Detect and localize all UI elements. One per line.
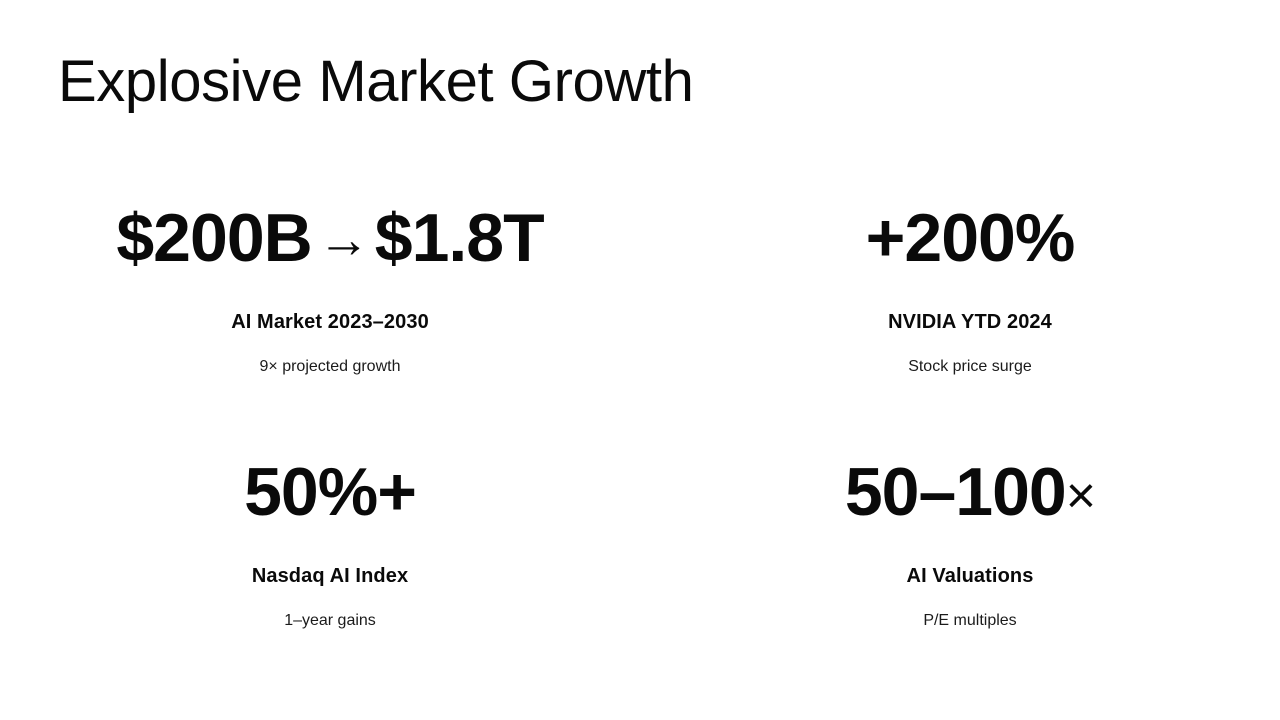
stat-value-suffix: $1.8T — [375, 200, 544, 276]
stat-label: AI Valuations — [660, 526, 1280, 586]
stat-value: 50–100× — [660, 434, 1280, 526]
stat-value: +200% — [660, 180, 1280, 272]
arrow-right-icon: → — [312, 214, 375, 266]
stat-sublabel: 1–year gains — [0, 586, 660, 629]
stat-card-ai-valuations: 50–100× AI Valuations P/E multiples — [660, 434, 1280, 688]
stat-label: AI Market 2023–2030 — [0, 272, 660, 332]
stat-value-prefix: $200B — [116, 200, 311, 276]
stat-value: 50%+ — [0, 434, 660, 526]
stat-card-nvidia-ytd: +200% NVIDIA YTD 2024 Stock price surge — [660, 180, 1280, 434]
slide-root: Explosive Market Growth $200B→$1.8T AI M… — [0, 0, 1280, 720]
stat-sublabel: Stock price surge — [660, 332, 1280, 375]
stat-label: Nasdaq AI Index — [0, 526, 660, 586]
stat-sublabel: 9× projected growth — [0, 332, 660, 375]
stat-sublabel: P/E multiples — [660, 586, 1280, 629]
stat-grid: $200B→$1.8T AI Market 2023–2030 9× proje… — [0, 180, 1280, 688]
stat-value-prefix: 50–100 — [845, 454, 1066, 530]
stat-label: NVIDIA YTD 2024 — [660, 272, 1280, 332]
stat-card-ai-market: $200B→$1.8T AI Market 2023–2030 9× proje… — [0, 180, 660, 434]
page-title: Explosive Market Growth — [58, 52, 693, 113]
multiplication-sign-icon: × — [1066, 470, 1095, 522]
stat-card-nasdaq-ai-index: 50%+ Nasdaq AI Index 1–year gains — [0, 434, 660, 688]
stat-value: $200B→$1.8T — [0, 180, 660, 272]
